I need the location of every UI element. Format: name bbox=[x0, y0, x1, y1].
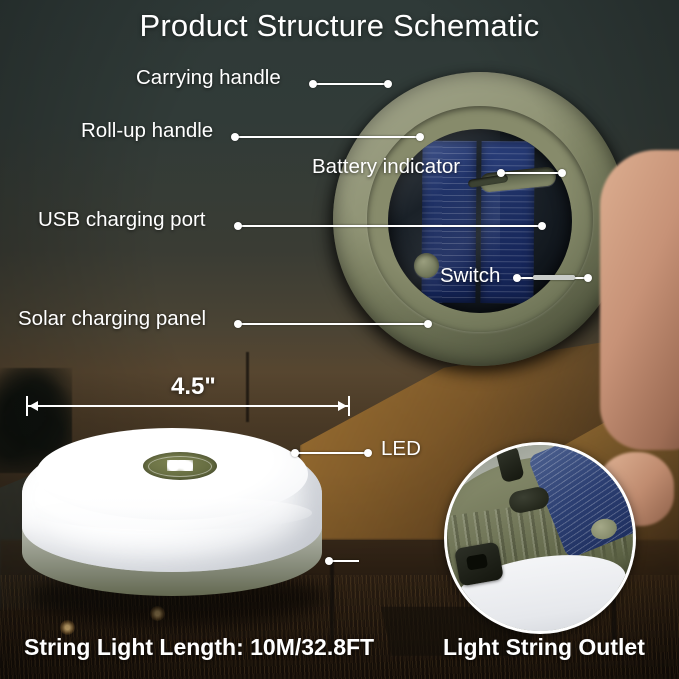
caption-string-light-length: String Light Length: 10M/32.8FT bbox=[24, 634, 374, 661]
callout-dot-solar-charging-panel bbox=[234, 320, 242, 328]
callout-roll-up-handle: Roll-up handle bbox=[81, 119, 213, 143]
leader-line-usb-charging-port bbox=[240, 225, 543, 227]
callout-target-roll-up-handle bbox=[416, 133, 424, 141]
callout-dot-led bbox=[364, 449, 372, 457]
callout-target-usb-charging-port bbox=[538, 222, 546, 230]
brand-logo-mark bbox=[167, 460, 193, 471]
product-top-view bbox=[333, 72, 627, 366]
callout-target-battery-indicator bbox=[558, 169, 566, 177]
callout-dot-roll-up-handle bbox=[231, 133, 239, 141]
callout-target-solar-charging-panel bbox=[424, 320, 432, 328]
leader-line-battery-indicator bbox=[503, 172, 563, 174]
dimension-cap-left bbox=[26, 396, 28, 416]
callout-dot-usb-charging-port bbox=[234, 222, 242, 230]
callout-target-led bbox=[291, 449, 299, 457]
callout-dot-switch bbox=[513, 274, 521, 282]
callout-solar-charging-panel: Solar charging panel bbox=[18, 307, 206, 331]
dimension-cap-right bbox=[348, 396, 350, 416]
brand-logo-badge bbox=[143, 452, 217, 480]
carrying-hook-left bbox=[414, 253, 439, 278]
caption-light-string-outlet: Light String Outlet bbox=[443, 634, 645, 661]
callout-led: LED bbox=[381, 437, 421, 461]
callout-dot-battery-indicator bbox=[497, 169, 505, 177]
leader-line-diffuser-lower bbox=[331, 560, 359, 562]
callout-usb-charging-port: USB charging port bbox=[38, 208, 206, 232]
leader-line-solar-charging-panel bbox=[240, 323, 428, 325]
callout-battery-indicator: Battery indicator bbox=[312, 155, 460, 179]
led-diffuser-seam bbox=[32, 496, 312, 530]
callout-carrying-handle: Carrying handle bbox=[136, 66, 281, 90]
hand-holding-product bbox=[600, 150, 679, 450]
dimension-arrow-left bbox=[29, 401, 38, 411]
dimension-arrow-right bbox=[338, 401, 347, 411]
leader-line-roll-up-handle bbox=[237, 136, 421, 138]
dimension-label: 4.5" bbox=[171, 373, 216, 401]
leader-line-carrying-handle bbox=[315, 83, 389, 85]
product-schematic-image: Product Structure Schematic bbox=[0, 0, 679, 679]
callout-switch: Switch bbox=[440, 264, 500, 288]
dimension-line bbox=[27, 405, 349, 407]
callout-target-carrying-handle bbox=[384, 80, 392, 88]
callout-dot-diffuser-lower bbox=[325, 557, 333, 565]
callout-target-switch bbox=[584, 274, 592, 282]
leader-line-led bbox=[297, 452, 365, 454]
callout-dot-carrying-handle bbox=[309, 80, 317, 88]
light-string-outlet-inset bbox=[444, 442, 636, 634]
page-title: Product Structure Schematic bbox=[0, 8, 679, 44]
leader-line-switch-highlight bbox=[533, 275, 575, 280]
